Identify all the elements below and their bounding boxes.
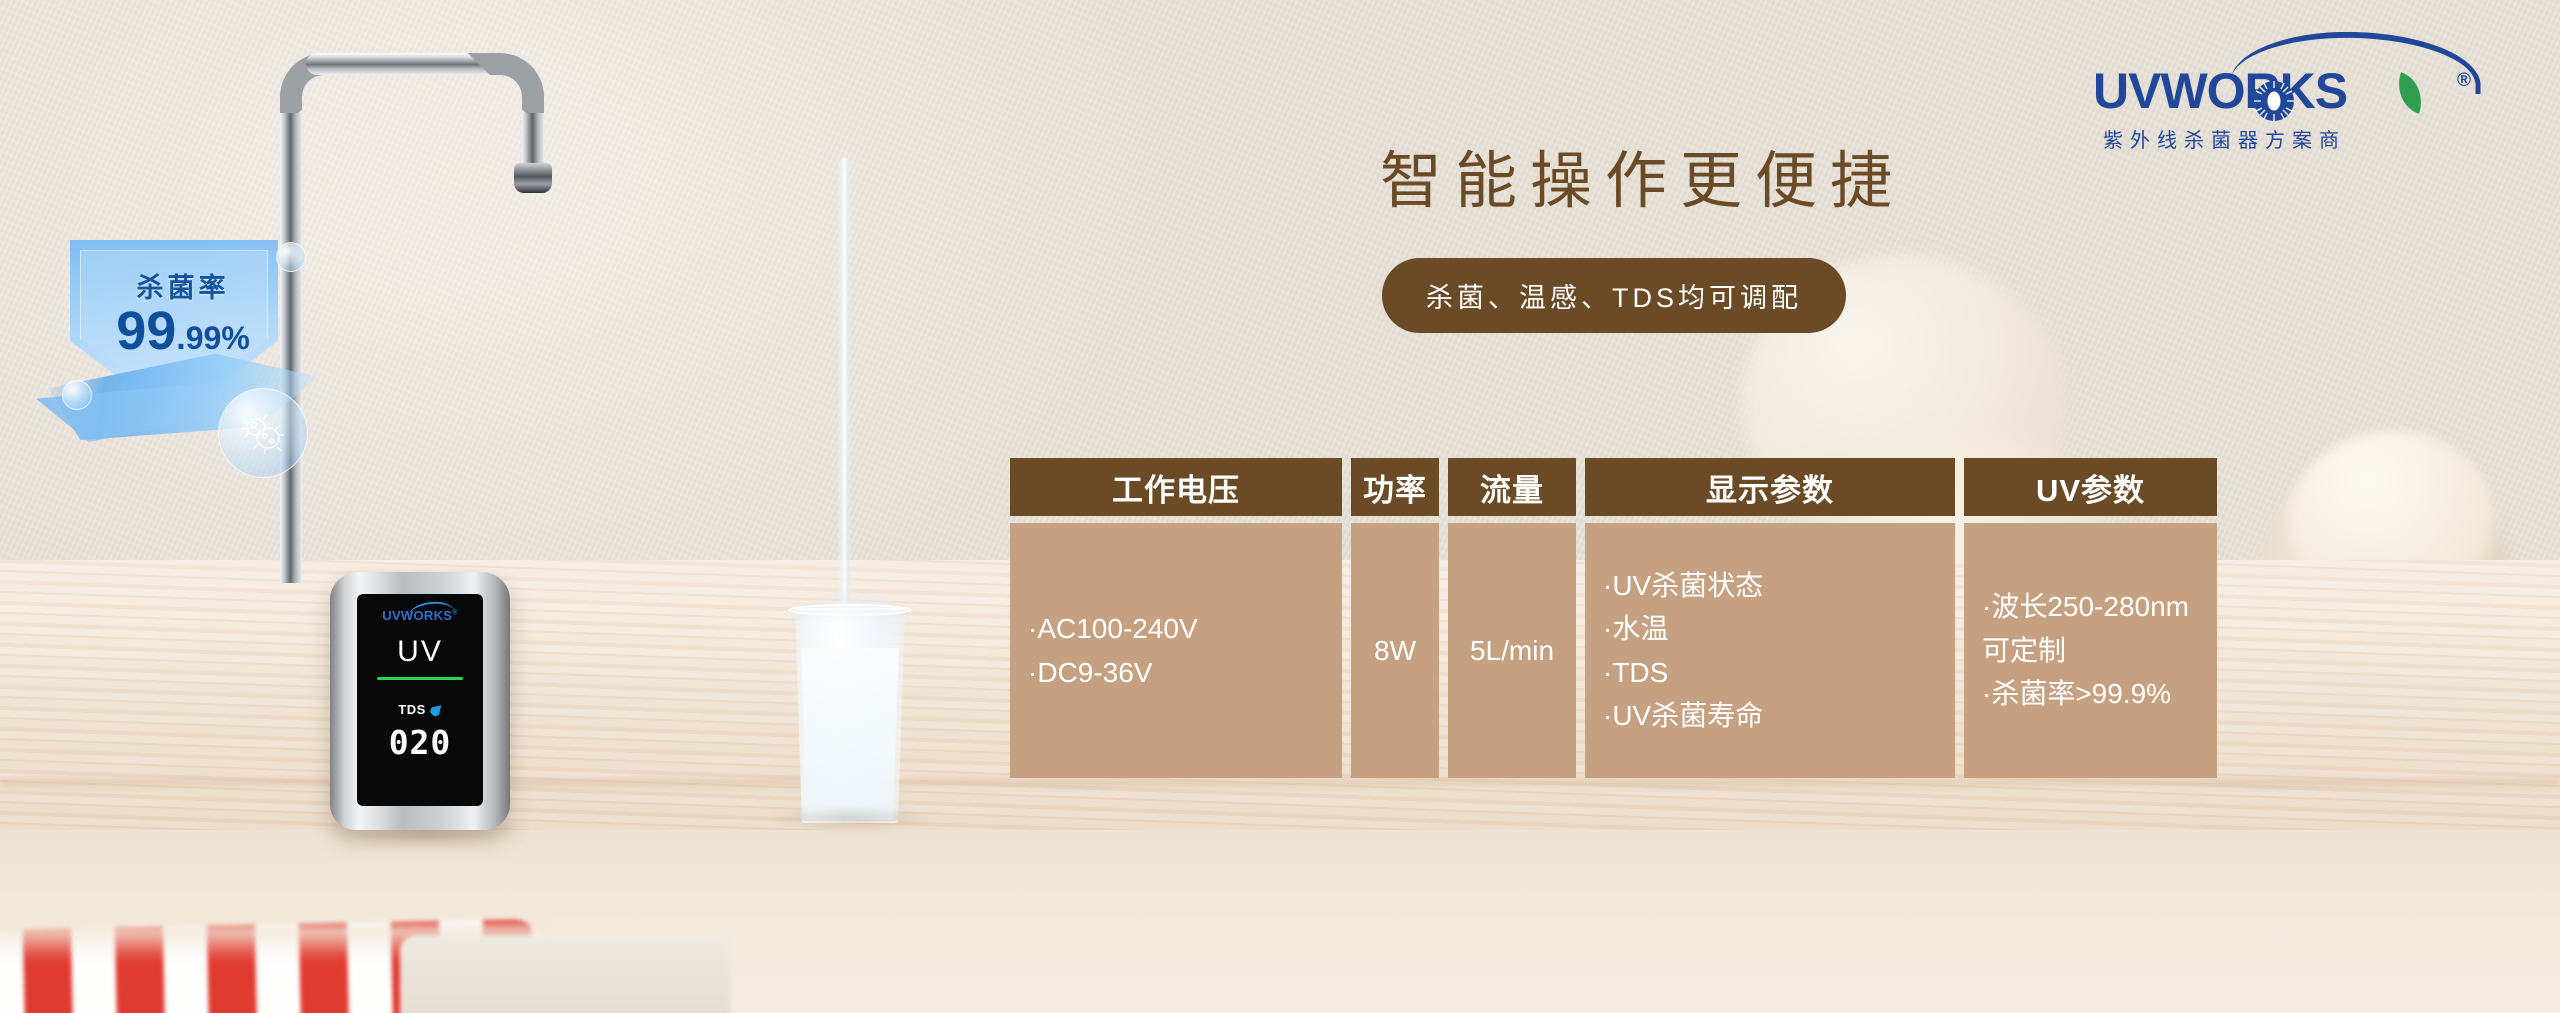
badge-value-separator: .	[176, 319, 185, 357]
spec-column-body: ·波长250-280nm 可定制·杀菌率>99.9%	[1964, 523, 2217, 778]
badge-value: 99.99%	[48, 300, 318, 362]
subtitle-pill: 杀菌、温感、TDS均可调配	[1382, 258, 1846, 333]
spec-line: ·水温	[1603, 607, 1668, 650]
logo-tagline: 紫外线杀菌器方案商	[2103, 124, 2346, 153]
spec-line: ·AC100-240V	[1028, 607, 1198, 650]
registered-trademark-icon: ®	[2457, 70, 2471, 92]
spec-column-body: ·UV杀菌状态·水温·TDS·UV杀菌寿命	[1585, 523, 1955, 778]
glass-rim	[788, 604, 912, 616]
spec-line: 8W	[1374, 629, 1416, 672]
spec-column-3: 流量5L/min	[1448, 458, 1576, 778]
spec-line: ·DC9-36V	[1028, 651, 1152, 694]
glass-shadow	[772, 808, 932, 830]
device-screen-logo: UVWORKS®	[382, 608, 457, 623]
spec-column-header: 功率	[1351, 458, 1439, 516]
faucet-spout-tip	[514, 163, 552, 193]
spec-column-body: 8W	[1351, 523, 1439, 778]
bubble-icon	[276, 242, 306, 272]
device-screen: UVWORKS® UV TDS 020	[357, 594, 483, 806]
spec-line: ·TDS	[1603, 651, 1668, 694]
spec-column-header: 流量	[1448, 458, 1576, 516]
germ-bubble-icon	[218, 388, 308, 478]
device-status-bar	[377, 677, 463, 680]
spec-column-1: 工作电压·AC100-240V·DC9-36V	[1010, 458, 1342, 778]
spec-column-5: UV参数·波长250-280nm 可定制·杀菌率>99.9%	[1964, 458, 2217, 778]
sun-burst-icon	[2253, 80, 2295, 122]
ceramic-plate-icon	[400, 935, 730, 1013]
brand-logo[interactable]: UVWORKS ® 紫外线杀菌器方案商	[2085, 36, 2485, 156]
device-tds-label: TDS	[398, 702, 426, 717]
spec-column-header: UV参数	[1964, 458, 2217, 516]
spec-column-header: 显示参数	[1585, 458, 1955, 516]
water-stream-icon	[838, 158, 851, 613]
logo-wordmark: UVWORKS	[2093, 62, 2347, 120]
spec-column-body: 5L/min	[1448, 523, 1576, 778]
bubble-2-icon	[62, 380, 92, 410]
specification-table: 工作电压·AC100-240V·DC9-36V功率8W流量5L/min显示参数·…	[1010, 458, 2310, 778]
water-drop-icon	[428, 701, 445, 718]
spec-line: ·UV杀菌状态	[1603, 564, 1763, 607]
page-title: 智能操作更便捷	[1380, 130, 1905, 220]
uv-device: UVWORKS® UV TDS 020	[330, 572, 510, 830]
spec-line: ·杀菌率>99.9%	[1982, 672, 2171, 715]
spec-column-2: 功率8W	[1351, 458, 1439, 778]
device-tds-row: TDS	[398, 702, 442, 717]
spec-column-header: 工作电压	[1010, 458, 1342, 516]
spec-line: ·UV杀菌寿命	[1603, 694, 1763, 737]
badge-value-decimal: 99%	[186, 320, 250, 356]
device-tds-value: 020	[389, 723, 452, 762]
badge-value-integer: 99	[116, 301, 176, 361]
glass-water-fill	[798, 648, 902, 820]
spec-line: 5L/min	[1470, 629, 1554, 672]
spec-column-body: ·AC100-240V·DC9-36V	[1010, 523, 1342, 778]
spec-column-4: 显示参数·UV杀菌状态·水温·TDS·UV杀菌寿命	[1585, 458, 1955, 778]
device-mode-label: UV	[397, 637, 443, 667]
bacteria-icon	[235, 405, 291, 461]
spec-line: 可定制	[1982, 629, 2066, 672]
spec-line: ·波长250-280nm	[1982, 585, 2189, 628]
